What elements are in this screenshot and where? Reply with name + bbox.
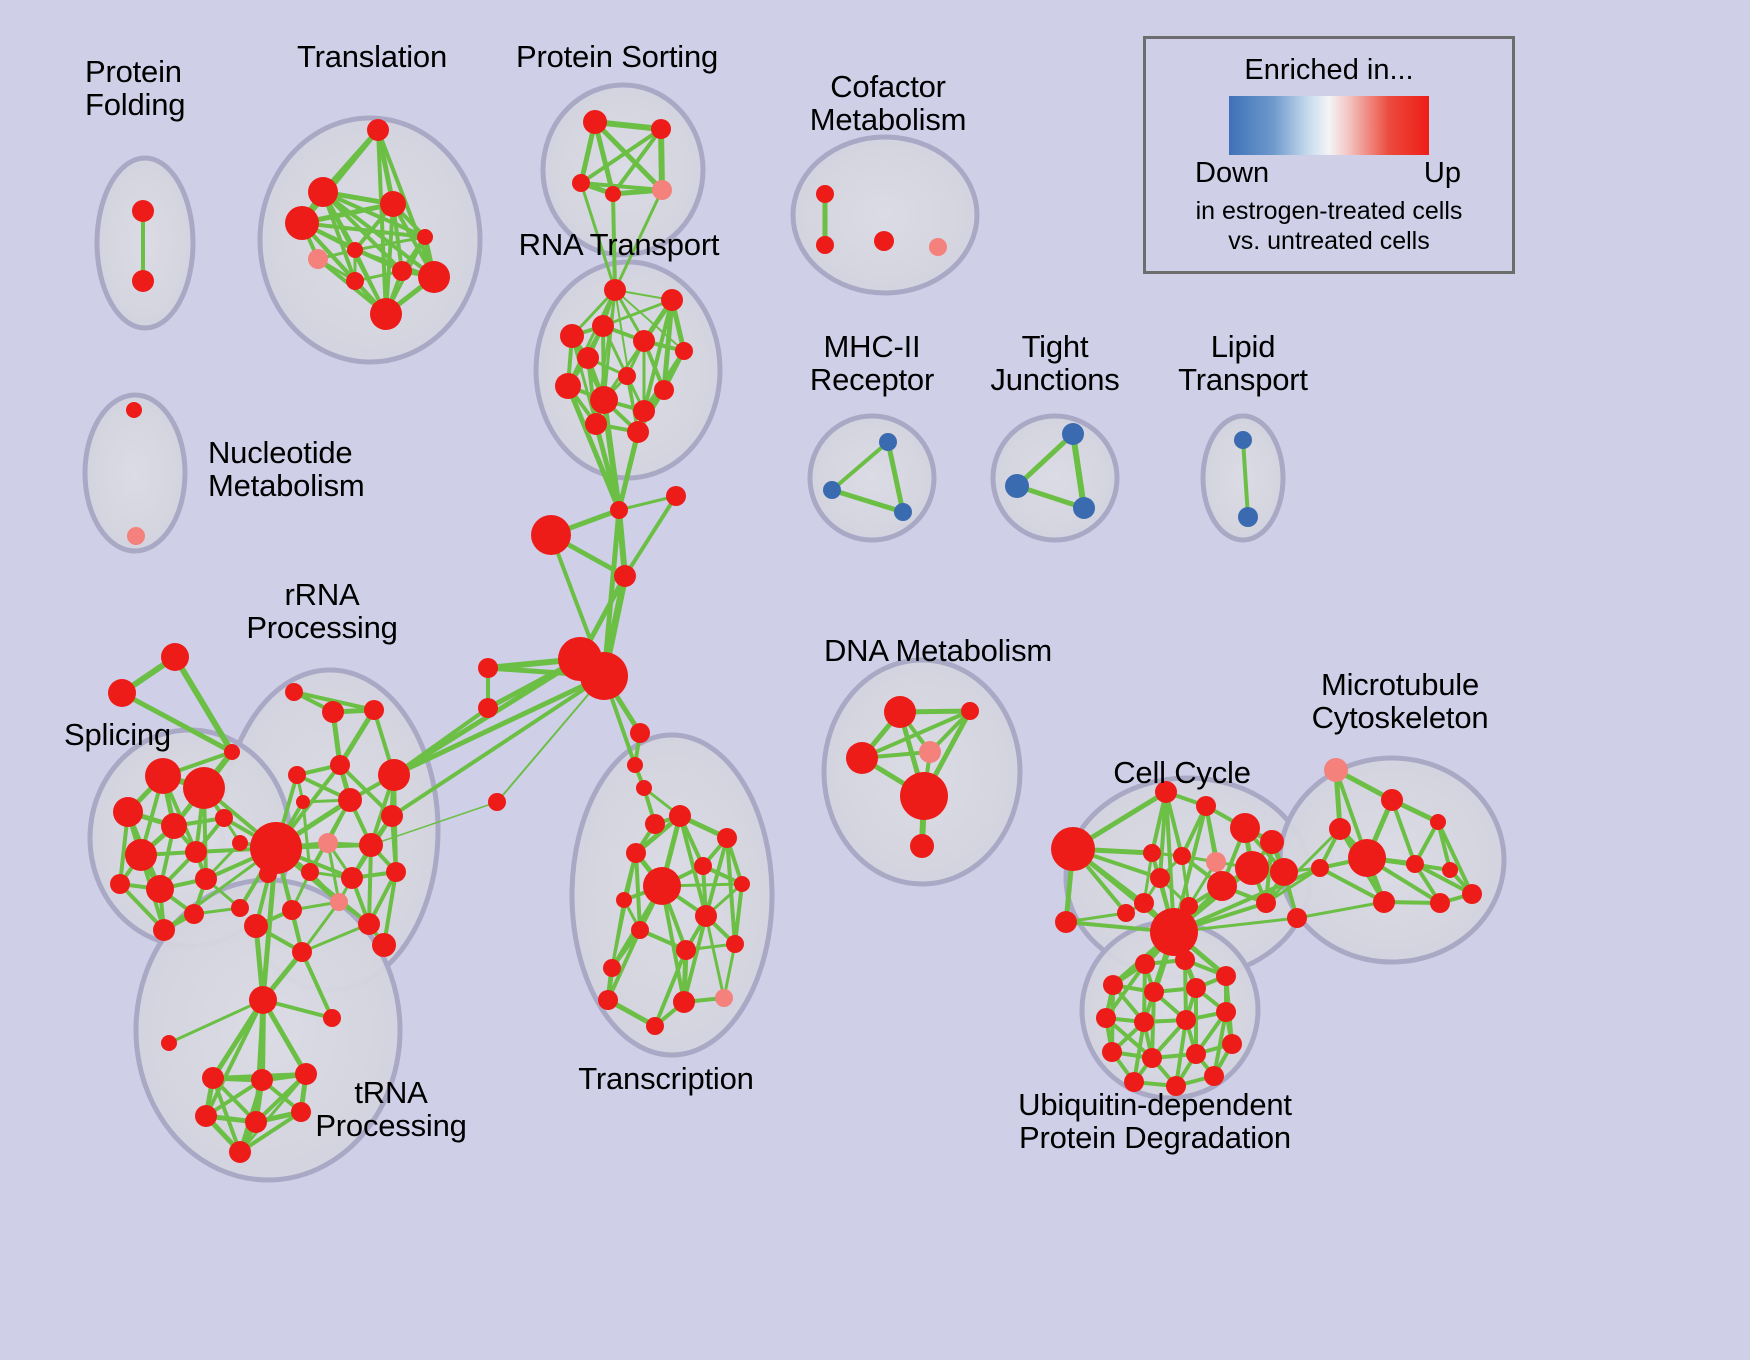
cluster-hull-mhc-ii-receptor [810, 416, 934, 540]
network-node[interactable] [341, 867, 363, 889]
network-node[interactable] [605, 186, 621, 202]
network-node[interactable] [610, 501, 628, 519]
network-node[interactable] [1373, 891, 1395, 913]
cluster-label-line: Metabolism [208, 469, 365, 502]
network-node[interactable] [1150, 908, 1198, 956]
network-node[interactable] [308, 249, 328, 269]
network-node[interactable] [386, 862, 406, 882]
network-node[interactable] [183, 767, 225, 809]
network-node[interactable] [1051, 827, 1095, 871]
network-node[interactable] [359, 833, 383, 857]
legend-down-label: Down [1195, 157, 1269, 190]
cluster-hull-cofactor-metabolism [793, 137, 977, 293]
network-node[interactable] [364, 700, 384, 720]
legend-title: Enriched in... [1146, 54, 1512, 87]
network-node[interactable] [417, 229, 433, 245]
network-node[interactable] [633, 330, 655, 352]
network-node[interactable] [392, 261, 412, 281]
network-node[interactable] [380, 191, 406, 217]
network-node[interactable] [1381, 789, 1403, 811]
cluster-label-line: Folding [85, 88, 185, 121]
cluster-label-line: Junctions [990, 363, 1119, 396]
network-node[interactable] [195, 868, 217, 890]
network-node[interactable] [370, 298, 402, 330]
network-node[interactable] [161, 643, 189, 671]
network-node[interactable] [308, 177, 338, 207]
network-node[interactable] [358, 913, 380, 935]
network-node[interactable] [1096, 1008, 1116, 1028]
network-node[interactable] [816, 236, 834, 254]
network-node[interactable] [673, 991, 695, 1013]
cluster-label-line: Microtubule [1312, 668, 1489, 701]
network-node[interactable] [224, 744, 240, 760]
network-node[interactable] [1207, 871, 1237, 901]
network-node[interactable] [910, 834, 934, 858]
cluster-label-trna-processing: tRNAProcessing [315, 1076, 466, 1143]
network-node[interactable] [1134, 893, 1154, 913]
network-node[interactable] [1256, 893, 1276, 913]
network-node[interactable] [823, 481, 841, 499]
network-node[interactable] [652, 180, 672, 200]
network-node[interactable] [1073, 497, 1095, 519]
network-node[interactable] [646, 1017, 664, 1035]
network-node[interactable] [1150, 868, 1170, 888]
network-node[interactable] [153, 919, 175, 941]
network-node[interactable] [604, 279, 626, 301]
cluster-label-line: Cytoskeleton [1312, 701, 1489, 734]
network-node[interactable] [1173, 847, 1191, 865]
network-node[interactable] [108, 679, 136, 707]
network-node[interactable] [894, 503, 912, 521]
network-node[interactable] [651, 119, 671, 139]
network-node[interactable] [488, 793, 506, 811]
cluster-label-line: Protein [85, 55, 185, 88]
network-node[interactable] [603, 959, 621, 977]
cluster-label-rna-transport: RNA Transport [519, 228, 720, 261]
network-node[interactable] [961, 702, 979, 720]
cluster-label-microtubule-cytoskeleton: MicrotubuleCytoskeleton [1312, 668, 1489, 735]
network-node[interactable] [381, 805, 403, 827]
cluster-label-line: Translation [297, 40, 447, 73]
network-node[interactable] [296, 795, 310, 809]
network-node[interactable] [1055, 911, 1077, 933]
cluster-label-line: tRNA [315, 1076, 466, 1109]
network-node[interactable] [643, 867, 681, 905]
network-node[interactable] [630, 723, 650, 743]
network-node[interactable] [126, 402, 142, 418]
network-node[interactable] [323, 1009, 341, 1027]
network-node[interactable] [531, 515, 571, 555]
network-node[interactable] [627, 421, 649, 443]
network-node[interactable] [161, 1035, 177, 1051]
cluster-label-line: Cofactor [810, 70, 967, 103]
network-node[interactable] [132, 200, 154, 222]
network-node[interactable] [1430, 893, 1450, 913]
network-figure: ProteinFoldingTranslationProtein Sorting… [0, 0, 1750, 1360]
network-node[interactable] [1216, 1002, 1236, 1022]
network-node[interactable] [1329, 818, 1351, 840]
cluster-label-line: Transport [1178, 363, 1308, 396]
cluster-label-splicing: Splicing [64, 718, 171, 751]
network-node[interactable] [590, 386, 618, 414]
network-node[interactable] [694, 857, 712, 875]
network-node[interactable] [1222, 1034, 1242, 1054]
network-node[interactable] [1134, 1012, 1154, 1032]
network-node[interactable] [1196, 796, 1216, 816]
cluster-label-protein-folding: ProteinFolding [85, 55, 185, 122]
network-node[interactable] [1287, 908, 1307, 928]
network-node[interactable] [675, 342, 693, 360]
legend-subtitle-line1: in estrogen-treated cells [1146, 197, 1512, 225]
network-node[interactable] [884, 696, 916, 728]
network-node[interactable] [127, 527, 145, 545]
cluster-label-line: Processing [315, 1109, 466, 1142]
cluster-label-line: Protein Degradation [1018, 1121, 1292, 1154]
cluster-label-protein-sorting: Protein Sorting [516, 40, 718, 73]
cluster-label-line: Nucleotide [208, 436, 365, 469]
network-node[interactable] [291, 1102, 311, 1122]
network-node[interactable] [378, 759, 410, 791]
legend-panel: Enriched in... Down Up in estrogen-treat… [1143, 36, 1515, 274]
cluster-label-tight-junctions: TightJunctions [990, 330, 1119, 397]
network-node[interactable] [580, 652, 628, 700]
network-node[interactable] [330, 755, 350, 775]
network-node[interactable] [1260, 830, 1284, 854]
network-node[interactable] [1348, 839, 1386, 877]
network-node[interactable] [1144, 982, 1164, 1002]
network-node[interactable] [717, 828, 737, 848]
network-node[interactable] [145, 758, 181, 794]
network-node[interactable] [285, 206, 319, 240]
network-node[interactable] [295, 1063, 317, 1085]
network-node[interactable] [1103, 975, 1123, 995]
network-node[interactable] [614, 565, 636, 587]
network-node[interactable] [1442, 862, 1458, 878]
cluster-label-line: Metabolism [810, 103, 967, 136]
network-node[interactable] [846, 742, 878, 774]
network-node[interactable] [618, 367, 636, 385]
network-node[interactable] [202, 1067, 224, 1089]
network-node[interactable] [734, 876, 750, 892]
network-node[interactable] [929, 238, 947, 256]
network-node[interactable] [346, 272, 364, 290]
network-node[interactable] [666, 486, 686, 506]
legend-endpoints: Down Up [1193, 157, 1465, 195]
cluster-label-nucleotide-metabolism: NucleotideMetabolism [208, 436, 365, 503]
network-node[interactable] [322, 701, 344, 723]
network-node[interactable] [1270, 858, 1298, 886]
network-node[interactable] [583, 110, 607, 134]
network-node[interactable] [113, 797, 143, 827]
network-node[interactable] [125, 839, 157, 871]
network-node[interactable] [631, 921, 649, 939]
network-node[interactable] [879, 433, 897, 451]
network-node[interactable] [301, 863, 319, 881]
cluster-label-line: RNA Transport [519, 228, 720, 261]
network-node[interactable] [633, 400, 655, 422]
cluster-label-line: Splicing [64, 718, 171, 751]
network-node[interactable] [249, 986, 277, 1014]
network-node[interactable] [285, 683, 303, 701]
cluster-label-line: DNA Metabolism [824, 634, 1052, 667]
network-node[interactable] [1216, 966, 1236, 986]
cluster-label-line: Processing [246, 611, 397, 644]
network-node[interactable] [661, 289, 683, 311]
edge [394, 676, 604, 775]
cluster-label-line: rRNA [246, 578, 397, 611]
network-node[interactable] [1005, 474, 1029, 498]
cluster-label-cell-cycle: Cell Cycle [1113, 756, 1251, 789]
network-node[interactable] [244, 914, 268, 938]
cluster-label-line: Lipid [1178, 330, 1308, 363]
network-node[interactable] [251, 1069, 273, 1091]
network-node[interactable] [1186, 978, 1206, 998]
network-node[interactable] [161, 813, 187, 839]
network-node[interactable] [231, 899, 249, 917]
network-node[interactable] [1406, 855, 1424, 873]
network-node[interactable] [1135, 954, 1155, 974]
network-node[interactable] [669, 805, 691, 827]
network-node[interactable] [330, 893, 348, 911]
cluster-label-line: Receptor [810, 363, 934, 396]
network-node[interactable] [592, 315, 614, 337]
network-node[interactable] [555, 373, 581, 399]
network-node[interactable] [695, 905, 717, 927]
legend-color-gradient-bar [1229, 96, 1429, 155]
network-node[interactable] [726, 935, 744, 953]
network-node[interactable] [1235, 851, 1269, 885]
cluster-label-mhc-ii-receptor: MHC-IIReceptor [810, 330, 934, 397]
network-node[interactable] [1230, 813, 1260, 843]
network-node[interactable] [572, 174, 590, 192]
network-node[interactable] [1143, 844, 1161, 862]
network-node[interactable] [919, 741, 941, 763]
network-node[interactable] [229, 1141, 251, 1163]
network-node[interactable] [367, 119, 389, 141]
cluster-label-line: Ubiquitin-dependent [1018, 1088, 1292, 1121]
network-node[interactable] [654, 380, 674, 400]
network-node[interactable] [232, 835, 248, 851]
network-node[interactable] [245, 1111, 267, 1133]
network-node[interactable] [347, 242, 363, 258]
cluster-label-cofactor-metabolism: CofactorMetabolism [810, 70, 967, 137]
network-node[interactable] [478, 698, 498, 718]
network-node[interactable] [184, 904, 204, 924]
network-node[interactable] [1062, 423, 1084, 445]
network-node[interactable] [132, 270, 154, 292]
network-node[interactable] [577, 347, 599, 369]
legend-up-label: Up [1424, 157, 1461, 190]
network-node[interactable] [816, 185, 834, 203]
cluster-label-line: MHC-II [810, 330, 934, 363]
network-node[interactable] [318, 833, 338, 853]
network-node[interactable] [282, 900, 302, 920]
network-node[interactable] [585, 413, 607, 435]
network-node[interactable] [1186, 1044, 1206, 1064]
network-node[interactable] [185, 841, 207, 863]
network-node[interactable] [338, 788, 362, 812]
network-node[interactable] [250, 822, 302, 874]
cluster-label-lipid-transport: LipidTransport [1178, 330, 1308, 397]
network-node[interactable] [676, 940, 696, 960]
network-node[interactable] [900, 772, 948, 820]
legend-subtitle-line2: vs. untreated cells [1146, 227, 1512, 255]
cluster-label-line: Tight [990, 330, 1119, 363]
network-node[interactable] [715, 989, 733, 1007]
network-node[interactable] [1311, 859, 1329, 877]
network-node[interactable] [259, 865, 277, 883]
network-node[interactable] [1430, 814, 1446, 830]
network-node[interactable] [1204, 1066, 1224, 1086]
network-node[interactable] [645, 814, 665, 834]
network-node[interactable] [215, 809, 233, 827]
cluster-label-line: Protein Sorting [516, 40, 718, 73]
network-node[interactable] [146, 875, 174, 903]
network-node[interactable] [1462, 884, 1482, 904]
network-node[interactable] [1238, 507, 1258, 527]
network-node[interactable] [627, 757, 643, 773]
network-node[interactable] [372, 933, 396, 957]
cluster-label-transcription: Transcription [578, 1062, 753, 1095]
network-node[interactable] [1234, 431, 1252, 449]
network-node[interactable] [616, 892, 632, 908]
network-node[interactable] [598, 990, 618, 1010]
network-node[interactable] [1142, 1048, 1162, 1068]
network-node[interactable] [288, 766, 306, 784]
network-node[interactable] [1206, 852, 1226, 872]
cluster-label-dna-metabolism: DNA Metabolism [824, 634, 1052, 667]
network-node[interactable] [1117, 904, 1135, 922]
network-node[interactable] [1175, 950, 1195, 970]
network-node[interactable] [1324, 758, 1348, 782]
cluster-label-line: Cell Cycle [1113, 756, 1251, 789]
network-node[interactable] [478, 658, 498, 678]
cluster-label-translation: Translation [297, 40, 447, 73]
network-node[interactable] [110, 874, 130, 894]
network-node[interactable] [195, 1105, 217, 1127]
network-node[interactable] [292, 942, 312, 962]
network-node[interactable] [418, 261, 450, 293]
cluster-label-ubiquitin-protein-degradation: Ubiquitin-dependentProtein Degradation [1018, 1088, 1292, 1155]
network-node[interactable] [874, 231, 894, 251]
cluster-label-rrna-processing: rRNAProcessing [246, 578, 397, 645]
cluster-label-line: Transcription [578, 1062, 753, 1095]
network-node[interactable] [626, 843, 646, 863]
network-node[interactable] [636, 780, 652, 796]
network-node[interactable] [560, 324, 584, 348]
network-node[interactable] [1102, 1042, 1122, 1062]
network-node[interactable] [1176, 1010, 1196, 1030]
